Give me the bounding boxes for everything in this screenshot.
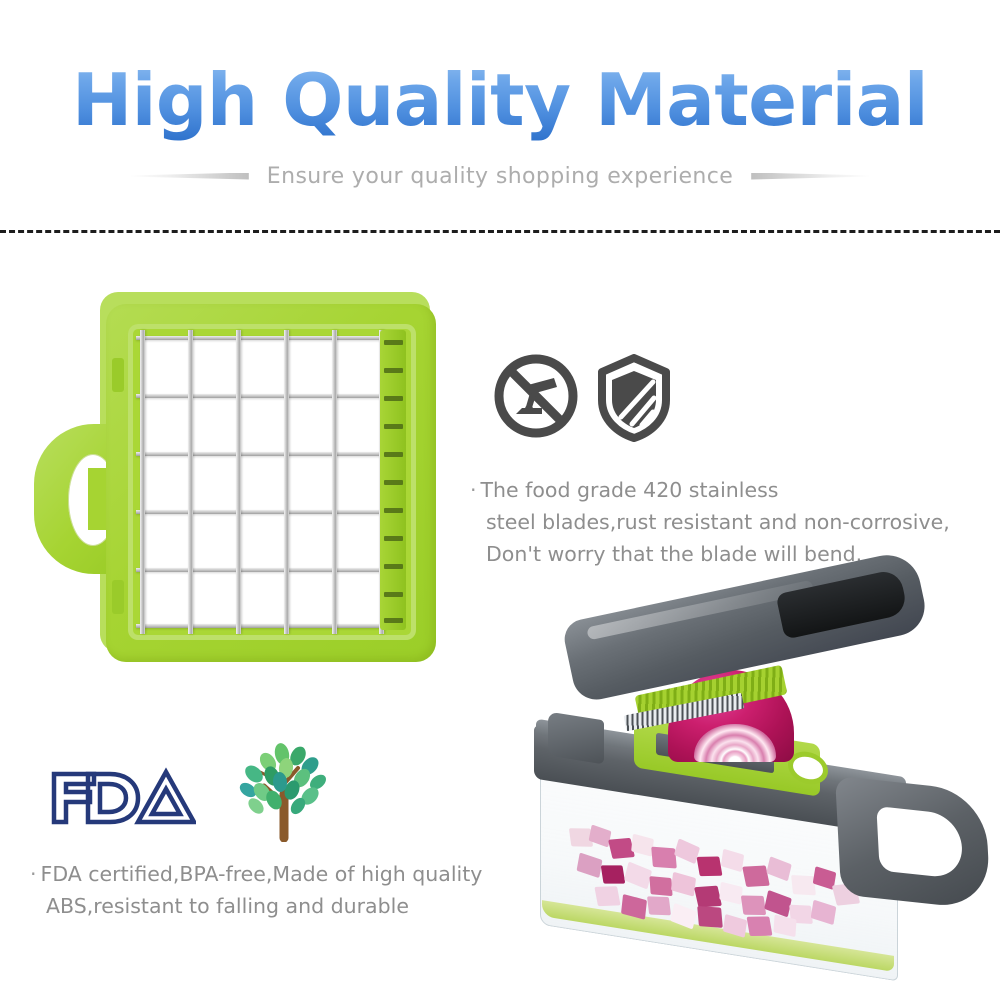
feature-line: steel blades,rust resistant and non-corr…: [470, 506, 990, 538]
onion-dice: [577, 852, 603, 878]
lever-pivot-hinge: [548, 712, 604, 765]
feature-line-text: FDA certified,BPA-free,Made of high qual…: [41, 862, 483, 886]
onion-dice: [697, 856, 723, 876]
onion-dice: [766, 856, 791, 881]
blade-quality-icons: [492, 352, 692, 446]
onion-dice: [631, 834, 654, 857]
blade-cell: [286, 511, 335, 569]
blade-bar-vertical: [140, 330, 145, 634]
feature-line: ·The food grade 420 stainless: [470, 474, 990, 506]
blade-cell: [238, 511, 287, 569]
rail-slot: [384, 592, 403, 597]
bullet-marker: ·: [30, 862, 37, 886]
tree-icon: [230, 742, 338, 842]
blade-cell: [335, 453, 384, 511]
onion-dice: [671, 872, 696, 897]
blade-cell: [286, 570, 335, 628]
blade-cell: [140, 394, 189, 452]
certification-icons: [48, 742, 348, 842]
blade-cell: [335, 511, 384, 569]
rail-slot: [384, 452, 403, 457]
rail-slot: [384, 340, 403, 345]
onion-dice: [723, 914, 747, 938]
onion-dice: [601, 865, 626, 883]
blade-cell: [335, 394, 384, 452]
plate-side-tab-bottom: [112, 580, 124, 614]
lever-grip-pad: [776, 568, 909, 639]
onion-dice: [791, 875, 816, 895]
onion-dice: [764, 890, 792, 918]
rail-slot: [384, 480, 403, 485]
onion-dice: [594, 886, 620, 906]
section-divider: [0, 230, 1000, 233]
blade-quality-text: ·The food grade 420 stainless steel blad…: [470, 474, 990, 570]
rail-slot: [384, 368, 403, 373]
fda-icon: [48, 764, 196, 826]
blade-cell: [286, 394, 335, 452]
blade-cell: [189, 511, 238, 569]
blade-bar-horizontal: [136, 624, 388, 628]
blade-bar-horizontal: [136, 336, 388, 340]
onion-dice: [811, 900, 837, 925]
onion-dice: [747, 916, 773, 936]
onion-dice: [697, 906, 723, 928]
onion-dice: [647, 896, 671, 915]
steel-blade-grid: [140, 336, 384, 628]
blade-cell: [335, 570, 384, 628]
blade-cell: [140, 336, 189, 394]
blade-cell: [189, 394, 238, 452]
onion-dice: [719, 882, 742, 905]
onion-dice: [651, 847, 677, 869]
page-subtitle: Ensure your quality shopping experience: [267, 164, 733, 189]
blade-bar-vertical: [284, 330, 289, 634]
blade-cell: [286, 336, 335, 394]
subtitle-rule-right: [751, 173, 871, 180]
blade-cell: [189, 570, 238, 628]
blade-cell: [238, 394, 287, 452]
blade-bar-vertical: [188, 330, 193, 634]
blade-bar-vertical: [332, 330, 337, 634]
blade-cell: [335, 336, 384, 394]
plate-side-tab-top: [112, 358, 124, 392]
blade-retention-rail: [380, 330, 406, 630]
blade-cell: [140, 511, 189, 569]
shield-icon: [596, 354, 672, 442]
onion-dice: [694, 886, 722, 908]
loop-handle-hole: [876, 806, 963, 879]
blade-cell: [238, 336, 287, 394]
feature-line: ABS,resistant to falling and durable: [30, 890, 550, 922]
bullet-marker: ·: [470, 478, 477, 502]
onion-dice: [721, 849, 744, 873]
onion-dice: [621, 894, 647, 920]
onion-dice: [741, 895, 766, 915]
chopper-loop-handle: [835, 776, 991, 911]
subtitle-rule-left: [129, 173, 249, 180]
blade-bar-horizontal: [136, 510, 388, 514]
rail-slot: [384, 536, 403, 541]
vegetable-chopper-image: [520, 612, 998, 1000]
blade-cell: [140, 570, 189, 628]
feature-line: ·FDA certified,BPA-free,Made of high qua…: [30, 858, 550, 890]
header-block: High Quality Material Ensure your qualit…: [0, 0, 1000, 200]
blade-bar-horizontal: [136, 394, 388, 398]
page-title: High Quality Material: [0, 58, 1000, 142]
subtitle-row: Ensure your quality shopping experience: [0, 160, 1000, 192]
onion-dice: [773, 914, 796, 937]
rail-slot: [384, 396, 403, 401]
rail-slot: [384, 424, 403, 429]
rail-slot: [384, 508, 403, 513]
onion-dice: [742, 865, 770, 886]
rail-slot: [384, 618, 403, 623]
blade-cell: [140, 453, 189, 511]
blade-cell: [238, 453, 287, 511]
onion-dice: [670, 903, 697, 930]
blade-grid-plate-image: [28, 288, 448, 680]
product-feature-page: High Quality Material Ensure your qualit…: [0, 0, 1000, 1000]
rail-slot: [384, 564, 403, 569]
blade-grid-cells: [140, 336, 384, 628]
onion-dice: [624, 861, 652, 889]
blade-bar-vertical: [236, 330, 241, 634]
blade-cell: [238, 570, 287, 628]
blade-cell: [189, 336, 238, 394]
blade-bar-horizontal: [136, 452, 388, 456]
no-bend-icon: [492, 352, 580, 440]
blade-cell: [286, 453, 335, 511]
onion-dice: [649, 876, 672, 896]
blade-bar-horizontal: [136, 568, 388, 572]
feature-line-text: The food grade 420 stainless: [481, 478, 779, 502]
blade-cell: [189, 453, 238, 511]
material-safety-text: ·FDA certified,BPA-free,Made of high qua…: [30, 858, 550, 922]
